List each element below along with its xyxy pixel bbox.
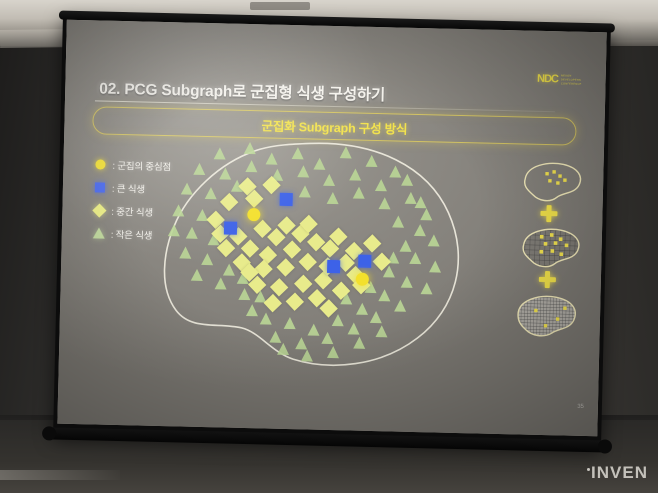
small-vegetation-marker	[172, 204, 184, 216]
small-vegetation-marker	[420, 282, 432, 294]
large-vegetation-marker	[358, 254, 371, 267]
small-vegetation-marker	[420, 208, 432, 220]
legend-label: : 작은 식생	[111, 226, 153, 241]
small-vegetation-marker	[399, 240, 411, 252]
small-vegetation-marker	[323, 174, 335, 186]
ndc-tagline-line: NEXON	[561, 74, 582, 77]
small-vegetation-marker	[413, 224, 425, 236]
dense-blob	[508, 290, 585, 338]
small-vegetation-marker	[180, 182, 192, 194]
small-vegetation-marker	[179, 246, 191, 258]
small-vegetation-marker	[374, 179, 386, 191]
small-vegetation-marker	[349, 168, 361, 180]
slide-page-number: 35	[577, 404, 584, 410]
medium-blob	[509, 224, 586, 270]
small-vegetation-marker	[326, 192, 338, 204]
green-triangle-icon	[92, 226, 106, 240]
small-vegetation-marker	[353, 337, 365, 349]
small-vegetation-marker	[190, 269, 202, 281]
yellow-circle-icon	[93, 157, 107, 171]
cluster-center-marker	[247, 207, 260, 220]
slide-canvas: 02. PCG Subgraph로 군집형 식생 구성하기 군집화 Subgra…	[57, 20, 606, 437]
small-vegetation-marker	[219, 167, 231, 179]
small-vegetation-marker	[300, 349, 312, 361]
small-vegetation-marker	[352, 186, 364, 198]
small-vegetation-marker	[269, 331, 281, 343]
ndc-tagline-line: DEVELOPERS	[561, 78, 582, 81]
small-vegetation-marker	[375, 325, 387, 337]
cluster-scatter-plot	[155, 134, 470, 376]
small-vegetation-marker	[277, 343, 289, 355]
small-vegetation-marker	[193, 163, 205, 175]
legend-label: : 큰 식생	[112, 180, 145, 195]
small-vegetation-marker	[222, 263, 234, 275]
small-vegetation-marker	[427, 234, 439, 246]
small-vegetation-marker	[429, 260, 441, 272]
small-vegetation-marker	[378, 289, 390, 301]
subtitle-text: 군집화 Subgraph 구성 방식	[261, 115, 407, 137]
small-vegetation-marker	[409, 252, 421, 264]
small-vegetation-marker	[204, 187, 216, 199]
sparse-blob	[511, 158, 588, 204]
watermark-text: INVEN	[591, 463, 648, 482]
small-vegetation-marker	[321, 332, 333, 344]
legend-label: : 중간 식생	[111, 203, 153, 218]
small-vegetation-marker	[347, 322, 359, 334]
small-vegetation-marker	[313, 158, 325, 170]
small-vegetation-marker	[283, 317, 295, 329]
yellow-diamond-icon	[92, 203, 106, 217]
small-vegetation-marker	[213, 147, 225, 159]
small-vegetation-marker	[245, 160, 257, 172]
large-vegetation-marker	[279, 192, 292, 205]
ndc-wordmark: NDC	[537, 73, 558, 85]
small-vegetation-marker	[369, 311, 381, 323]
small-vegetation-marker	[339, 146, 351, 158]
small-vegetation-marker	[389, 165, 401, 177]
small-vegetation-marker	[295, 337, 307, 349]
projector-screen: 02. PCG Subgraph로 군집형 식생 구성하기 군집화 Subgra…	[53, 14, 611, 447]
ndc-tagline-line: CONFERENCE	[561, 82, 582, 85]
plus-operator	[539, 271, 556, 288]
small-vegetation-marker	[297, 165, 309, 177]
cluster-center-marker	[355, 272, 368, 285]
small-vegetation-marker	[185, 227, 197, 239]
small-vegetation-marker	[326, 346, 338, 358]
small-vegetation-marker	[365, 155, 377, 167]
small-vegetation-marker	[214, 277, 226, 289]
blob-stack-diagram	[508, 158, 588, 320]
small-vegetation-marker	[414, 196, 426, 208]
large-vegetation-marker	[326, 259, 339, 272]
small-vegetation-marker	[394, 299, 406, 311]
small-vegetation-marker	[291, 147, 303, 159]
ceiling-vent	[250, 2, 310, 10]
ndc-logo: NDC NEXON DEVELOPERS CONFERENCE	[537, 73, 582, 86]
small-vegetation-marker	[243, 142, 255, 154]
small-vegetation-marker	[401, 174, 413, 186]
small-vegetation-marker	[400, 276, 412, 288]
small-vegetation-marker	[378, 197, 390, 209]
small-vegetation-marker	[298, 185, 310, 197]
large-vegetation-marker	[223, 221, 236, 234]
small-vegetation-marker	[167, 224, 179, 236]
small-vegetation-marker	[392, 215, 404, 227]
ndc-tagline: NEXON DEVELOPERS CONFERENCE	[561, 74, 582, 85]
small-vegetation-marker	[356, 303, 368, 315]
plus-operator	[540, 205, 557, 222]
small-vegetation-marker	[307, 323, 319, 335]
small-vegetation-marker	[331, 314, 343, 326]
small-vegetation-marker	[245, 304, 257, 316]
blue-square-icon	[93, 180, 107, 194]
glass-reflection	[0, 470, 120, 480]
small-vegetation-marker	[238, 288, 250, 300]
inven-watermark: INVEN	[587, 463, 648, 483]
small-vegetation-marker	[259, 312, 271, 324]
small-vegetation-marker	[265, 152, 277, 164]
small-vegetation-marker	[201, 253, 213, 265]
